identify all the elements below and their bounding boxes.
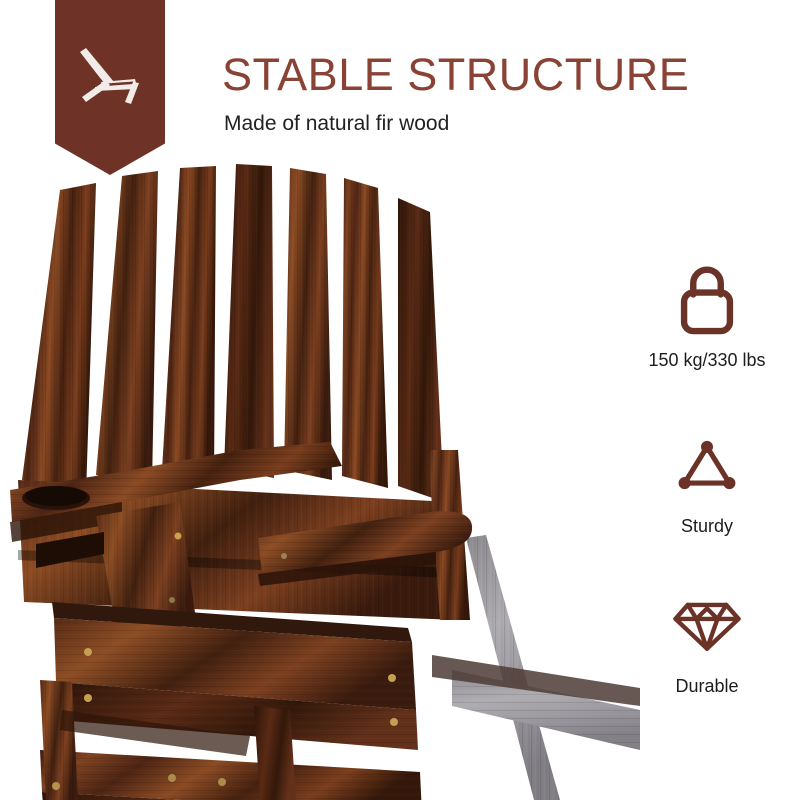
- diamond-gem-icon: [622, 584, 792, 666]
- padlock-icon: [622, 258, 792, 340]
- adirondack-chair-photo: [0, 150, 640, 800]
- product-infographic: STABLE STRUCTURE Made of natural fir woo…: [0, 0, 800, 800]
- feature-label: 150 kg/330 lbs: [622, 350, 792, 371]
- cup-holder: [25, 486, 87, 506]
- feature-label: Durable: [622, 676, 792, 697]
- feature-durable: Durable: [622, 584, 792, 697]
- page-subtitle: Made of natural fir wood: [224, 112, 449, 136]
- ribbon-banner: [55, 0, 165, 175]
- feature-label: Sturdy: [622, 516, 792, 537]
- deck-chair-icon: [73, 42, 147, 110]
- feature-sturdy: Sturdy: [622, 424, 792, 537]
- feature-weight-capacity: 150 kg/330 lbs: [622, 258, 792, 371]
- triangle-truss-icon: [622, 424, 792, 506]
- front-stretcher: [40, 750, 424, 800]
- chair-illustration: [0, 150, 640, 800]
- page-title: STABLE STRUCTURE: [222, 49, 689, 101]
